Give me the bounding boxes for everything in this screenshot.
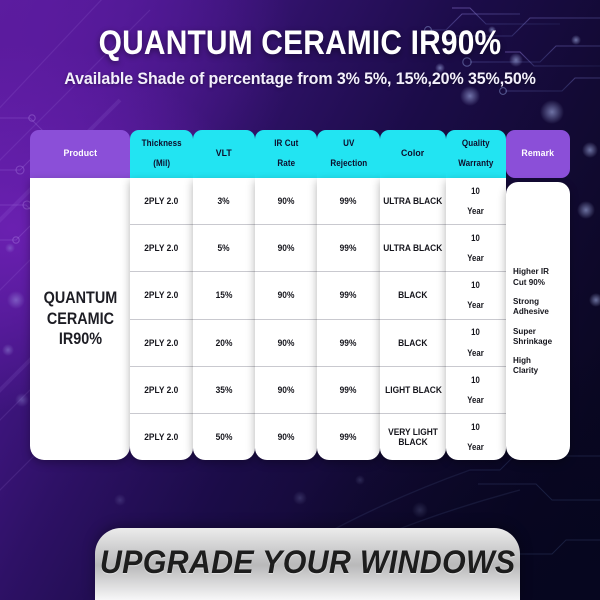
column-header-product-label: Product [63,149,97,159]
table-row: LIGHT BLACK [380,366,446,413]
cell-warranty-num: 10 [468,186,484,196]
column-body-quality-warranty: 10Year 10Year 10Year 10Year 10Year 10Yea… [446,178,506,460]
column-body-color: ULTRA BLACK ULTRA BLACK BLACK BLACK LIGH… [380,178,446,460]
table-row: 90% [255,224,317,271]
cell-uv: 99% [340,196,357,206]
cell-uv: 99% [340,432,357,442]
table-row: 3% [193,178,255,224]
cell-color: BLACK [398,338,427,348]
cell-warranty-unit: Year [468,253,484,263]
table-column-thickness: Thickness (Mil) 2PLY 2.0 2PLY 2.0 2PLY 2… [130,130,193,460]
cell-warranty: 10Year [467,186,485,216]
column-header-thickness: Thickness (Mil) [130,130,193,178]
column-header-uv-rejection: UV Rejection [317,130,380,178]
remark-line1: High [513,355,531,365]
upgrade-banner: UPGRADE YOUR WINDOWS [95,528,520,600]
cell-ir-cut: 90% [278,432,295,442]
table-row: 10Year [446,271,506,318]
table-row: 2PLY 2.0 [130,271,193,318]
cell-ir-cut: 90% [278,385,295,395]
table-row: 90% [255,319,317,366]
table-row: 2PLY 2.0 [130,224,193,271]
table-column-remark: Remark Higher IR Cut 90% Strong Adhesive… [506,130,570,460]
column-body-thickness: 2PLY 2.0 2PLY 2.0 2PLY 2.0 2PLY 2.0 2PLY… [130,178,193,460]
column-header-remark-label: Remark [522,149,555,159]
table-column-product: Product QUANTUM CERAMIC IR90% [30,130,130,460]
table-row: 5% [193,224,255,271]
cell-uv: 99% [340,243,357,253]
column-header-quality-warranty: Quality Warranty [446,130,506,178]
table-row: 99% [317,319,380,366]
column-header-thickness-label: Thickness (Mil) [140,139,184,170]
table-row: 90% [255,178,317,224]
table-row: 2PLY 2.0 [130,319,193,366]
cell-ir-cut: 90% [278,290,295,300]
cell-uv: 99% [340,385,357,395]
poster-root: QUANTUM CERAMIC IR90% Available Shade of… [0,0,600,600]
column-header-vlt: VLT [193,130,255,178]
cell-color: ULTRA BLACK [383,243,442,253]
column-header-ircut-line2: Rate [274,159,298,169]
cell-warranty: 10Year [467,280,485,310]
column-header-color-label: Color [401,149,424,159]
column-body-uv-rejection: 99% 99% 99% 99% 99% 99% [317,178,380,460]
remark-line2: Cut 90% [513,277,545,287]
table-row: 99% [317,178,380,224]
product-name-text: QUANTUM CERAMIC IR90% [40,288,120,350]
cell-warranty-num: 10 [468,375,484,385]
column-header-ir-cut-rate-label: IR Cut Rate [273,139,299,170]
cell-warranty-num: 10 [468,233,484,243]
cell-warranty: 10Year [467,375,485,405]
page-subtitle: Available Shade of percentage from 3% 5%… [9,70,591,89]
cell-ir-cut: 90% [278,243,295,253]
cell-warranty-unit: Year [468,442,484,452]
cell-vlt: 15% [216,290,233,300]
cell-warranty: 10Year [467,233,485,263]
cell-vlt: 5% [218,243,230,253]
poster-header: QUANTUM CERAMIC IR90% Available Shade of… [0,26,600,89]
table-row: ULTRA BLACK [380,178,446,224]
cell-thickness: 2PLY 2.0 [144,338,178,348]
list-item: Super Shrinkage [513,326,567,347]
table-row: 90% [255,366,317,413]
column-header-quality-line1: Quality [458,139,493,149]
cell-vlt: 3% [218,196,230,206]
table-row: 10Year [446,224,506,271]
table-row: 35% [193,366,255,413]
table-row: 10Year [446,366,506,413]
table-row: 15% [193,271,255,318]
cell-thickness: 2PLY 2.0 [144,290,178,300]
cell-thickness: 2PLY 2.0 [144,385,178,395]
column-header-color: Color [380,130,446,178]
column-header-remark: Remark [506,130,570,178]
table-column-quality-warranty: Quality Warranty 10Year 10Year 10Year 10… [446,130,506,460]
table-row: 20% [193,319,255,366]
column-header-thickness-line2: (Mil) [141,159,181,169]
cell-thickness: 2PLY 2.0 [144,196,178,206]
column-header-vlt-label: VLT [216,149,232,159]
column-header-product: Product [30,130,130,178]
cell-warranty: 10Year [467,327,485,357]
column-body-vlt: 3% 5% 15% 20% 35% 50% [193,178,255,460]
column-header-uv-line2: Rejection [330,159,367,169]
table-row: 99% [317,224,380,271]
remark-list: Higher IR Cut 90% Strong Adhesive Super … [506,182,570,460]
product-name-line-3: IR90% [43,329,117,350]
cell-color: VERY LIGHT BLACK [382,427,443,447]
column-header-uv-line1: UV [330,139,367,149]
cell-warranty-unit: Year [468,395,484,405]
product-name-line-2: CERAMIC [43,309,117,330]
cell-ir-cut: 90% [278,196,295,206]
table-row: 99% [317,413,380,460]
cell-color: BLACK [398,290,427,300]
column-header-thickness-line1: Thickness [141,139,181,149]
cell-warranty-unit: Year [468,348,484,358]
remark-line1: Higher IR [513,266,549,276]
cell-warranty-num: 10 [468,280,484,290]
list-item: High Clarity [513,355,567,376]
table-column-ir-cut-rate: IR Cut Rate 90% 90% 90% 90% 90% 90% [255,130,317,460]
table-row: 2PLY 2.0 [130,178,193,224]
column-header-ir-cut-rate: IR Cut Rate [255,130,317,178]
table-column-uv-rejection: UV Rejection 99% 99% 99% 99% 99% 99% [317,130,380,460]
table-row: 10Year [446,413,506,460]
table-row: 50% [193,413,255,460]
remark-line2: Adhesive [513,306,549,316]
cell-warranty-num: 10 [468,327,484,337]
cell-thickness: 2PLY 2.0 [144,432,178,442]
cell-vlt: 20% [216,338,233,348]
remark-line2: Shrinkage [513,336,552,346]
table-row: 90% [255,413,317,460]
table-row: 90% [255,271,317,318]
table-row: 99% [317,366,380,413]
column-body-remark: Higher IR Cut 90% Strong Adhesive Super … [506,182,570,460]
cell-vlt: 35% [216,385,233,395]
list-item: Strong Adhesive [513,296,567,317]
table-row: 2PLY 2.0 [130,366,193,413]
table-row: 10Year [446,319,506,366]
table-row: VERY LIGHT BLACK [380,413,446,460]
column-header-quality-warranty-label: Quality Warranty [457,139,495,170]
cell-color: ULTRA BLACK [383,196,442,206]
table-row: 2PLY 2.0 [130,413,193,460]
cell-warranty: 10Year [467,422,485,452]
upgrade-banner-text: UPGRADE YOUR WINDOWS [100,544,516,581]
table-row: BLACK [380,319,446,366]
table-column-color: Color ULTRA BLACK ULTRA BLACK BLACK BLAC… [380,130,446,460]
cell-ir-cut: 90% [278,338,295,348]
column-header-quality-line2: Warranty [458,159,493,169]
remark-line2: Clarity [513,365,538,375]
cell-warranty-unit: Year [468,206,484,216]
spec-table: Product QUANTUM CERAMIC IR90% Thickness … [30,130,570,460]
table-row: BLACK [380,271,446,318]
cell-uv: 99% [340,338,357,348]
column-body-product: QUANTUM CERAMIC IR90% [30,178,130,460]
table-row: 99% [317,271,380,318]
column-header-ircut-line1: IR Cut [274,139,298,149]
remark-line1: Strong [513,296,539,306]
cell-warranty-num: 10 [468,422,484,432]
product-name-line-1: QUANTUM [43,288,117,309]
column-body-ir-cut-rate: 90% 90% 90% 90% 90% 90% [255,178,317,460]
cell-color: LIGHT BLACK [385,385,442,395]
page-title: QUANTUM CERAMIC IR90% [36,26,564,61]
column-header-uv-rejection-label: UV Rejection [328,139,368,170]
cell-vlt: 50% [216,432,233,442]
list-item: Higher IR Cut 90% [513,266,567,287]
cell-thickness: 2PLY 2.0 [144,243,178,253]
table-row: ULTRA BLACK [380,224,446,271]
cell-uv: 99% [340,290,357,300]
remark-line1: Super [513,326,536,336]
product-name-cell: QUANTUM CERAMIC IR90% [30,178,130,460]
table-row: 10Year [446,178,506,224]
cell-warranty-unit: Year [468,300,484,310]
table-column-vlt: VLT 3% 5% 15% 20% 35% 50% [193,130,255,460]
